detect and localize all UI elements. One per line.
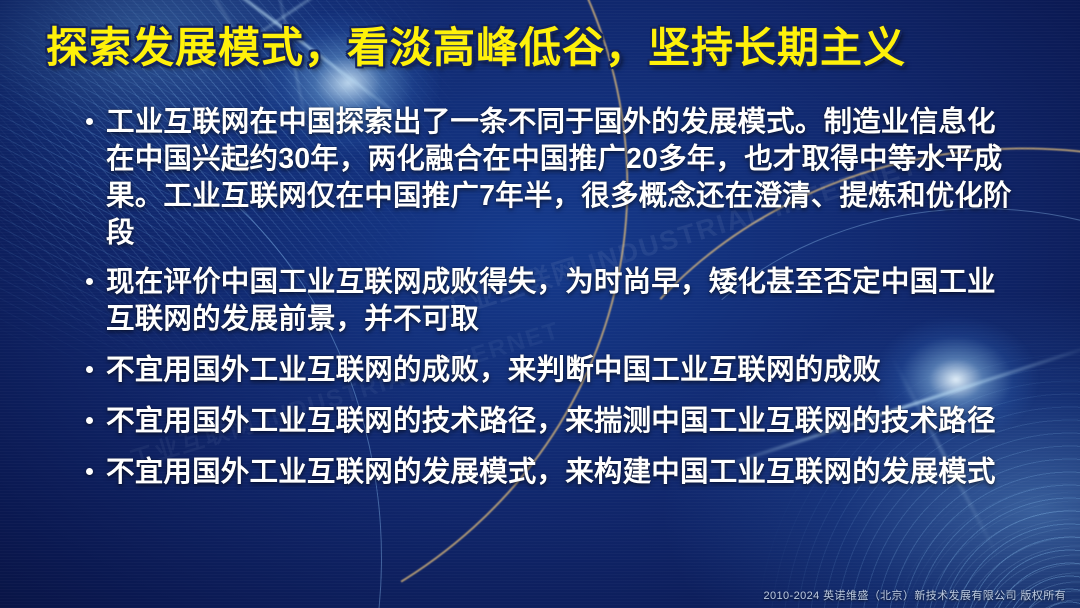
copyright-footer: 2010-2024 英诺维盛（北京）新技术发展有限公司 版权所有 xyxy=(763,587,1066,603)
presentation-slide: 工业互联网 INDUSTRIAL INTERNET 工业互联网 INDUSTRI… xyxy=(0,0,1080,608)
bullet-item: 现在评价中国工业互联网成败得失，为时尚早，矮化甚至否定中国工业互联网的发展前景，… xyxy=(78,264,1023,338)
slide-title: 探索发展模式，看淡高峰低谷，坚持长期主义 xyxy=(46,26,906,70)
slide-body-bullet-list: 工业互联网在中国探索出了一条不同于国外的发展模式。制造业信息化在中国兴起约30年… xyxy=(78,104,1023,505)
bullet-item: 不宜用国外工业互联网的发展模式，来构建中国工业互联网的发展模式 xyxy=(78,454,1023,491)
bullet-item: 不宜用国外工业互联网的技术路径，来揣测中国工业互联网的技术路径 xyxy=(78,403,1023,440)
bullet-item: 不宜用国外工业互联网的成败，来判断中国工业互联网的成败 xyxy=(78,352,1023,389)
bullet-item: 工业互联网在中国探索出了一条不同于国外的发展模式。制造业信息化在中国兴起约30年… xyxy=(78,104,1023,252)
